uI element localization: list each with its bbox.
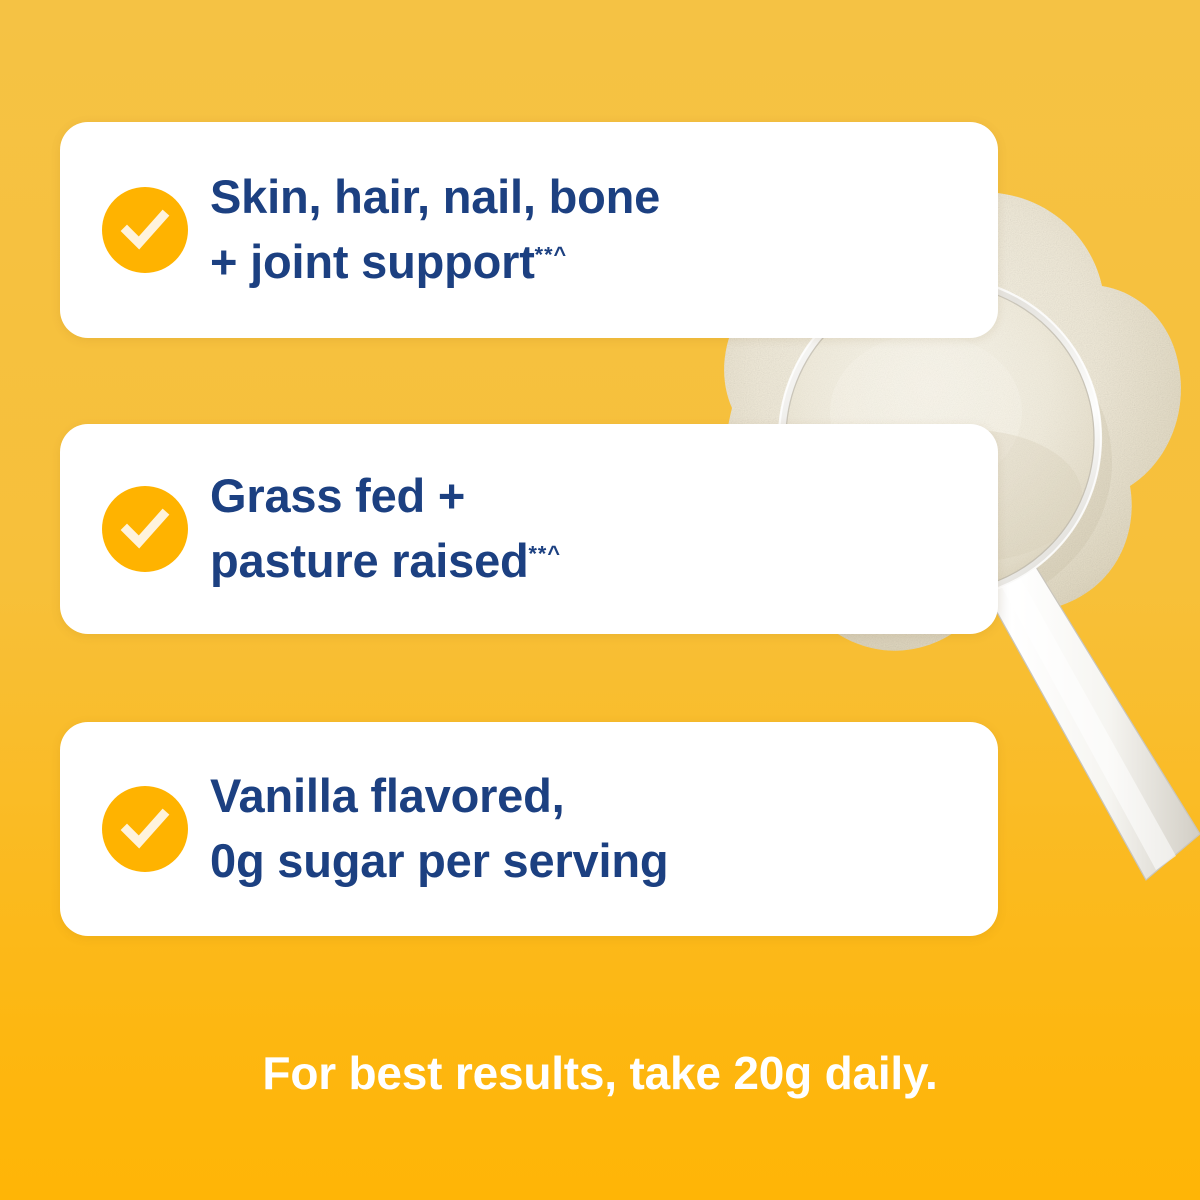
footnote-marker: **^ (535, 241, 567, 266)
benefit-card-1: Skin, hair, nail, bone + joint support**… (60, 122, 998, 338)
benefit-line-2: + joint support**^ (210, 230, 660, 295)
footnote-marker: **^ (529, 540, 561, 565)
usage-instruction-text: For best results, take 20g daily. (0, 1046, 1200, 1100)
benefit-line-1: Skin, hair, nail, bone (210, 165, 660, 230)
benefit-card-2: Grass fed + pasture raised**^ (60, 424, 998, 634)
check-icon (102, 486, 188, 572)
promo-banner: Skin, hair, nail, bone + joint support**… (0, 0, 1200, 1200)
benefit-text-1: Skin, hair, nail, bone + joint support**… (210, 165, 660, 295)
benefit-text-3: Vanilla flavored, 0g sugar per serving (210, 764, 668, 894)
benefit-card-3: Vanilla flavored, 0g sugar per serving (60, 722, 998, 936)
check-icon (102, 786, 188, 872)
benefit-text-2: Grass fed + pasture raised**^ (210, 464, 561, 594)
benefit-line-1: Grass fed + (210, 464, 561, 529)
benefit-line-1: Vanilla flavored, (210, 764, 668, 829)
check-icon (102, 187, 188, 273)
benefit-line-2: 0g sugar per serving (210, 829, 668, 894)
benefit-line-2: pasture raised**^ (210, 529, 561, 594)
